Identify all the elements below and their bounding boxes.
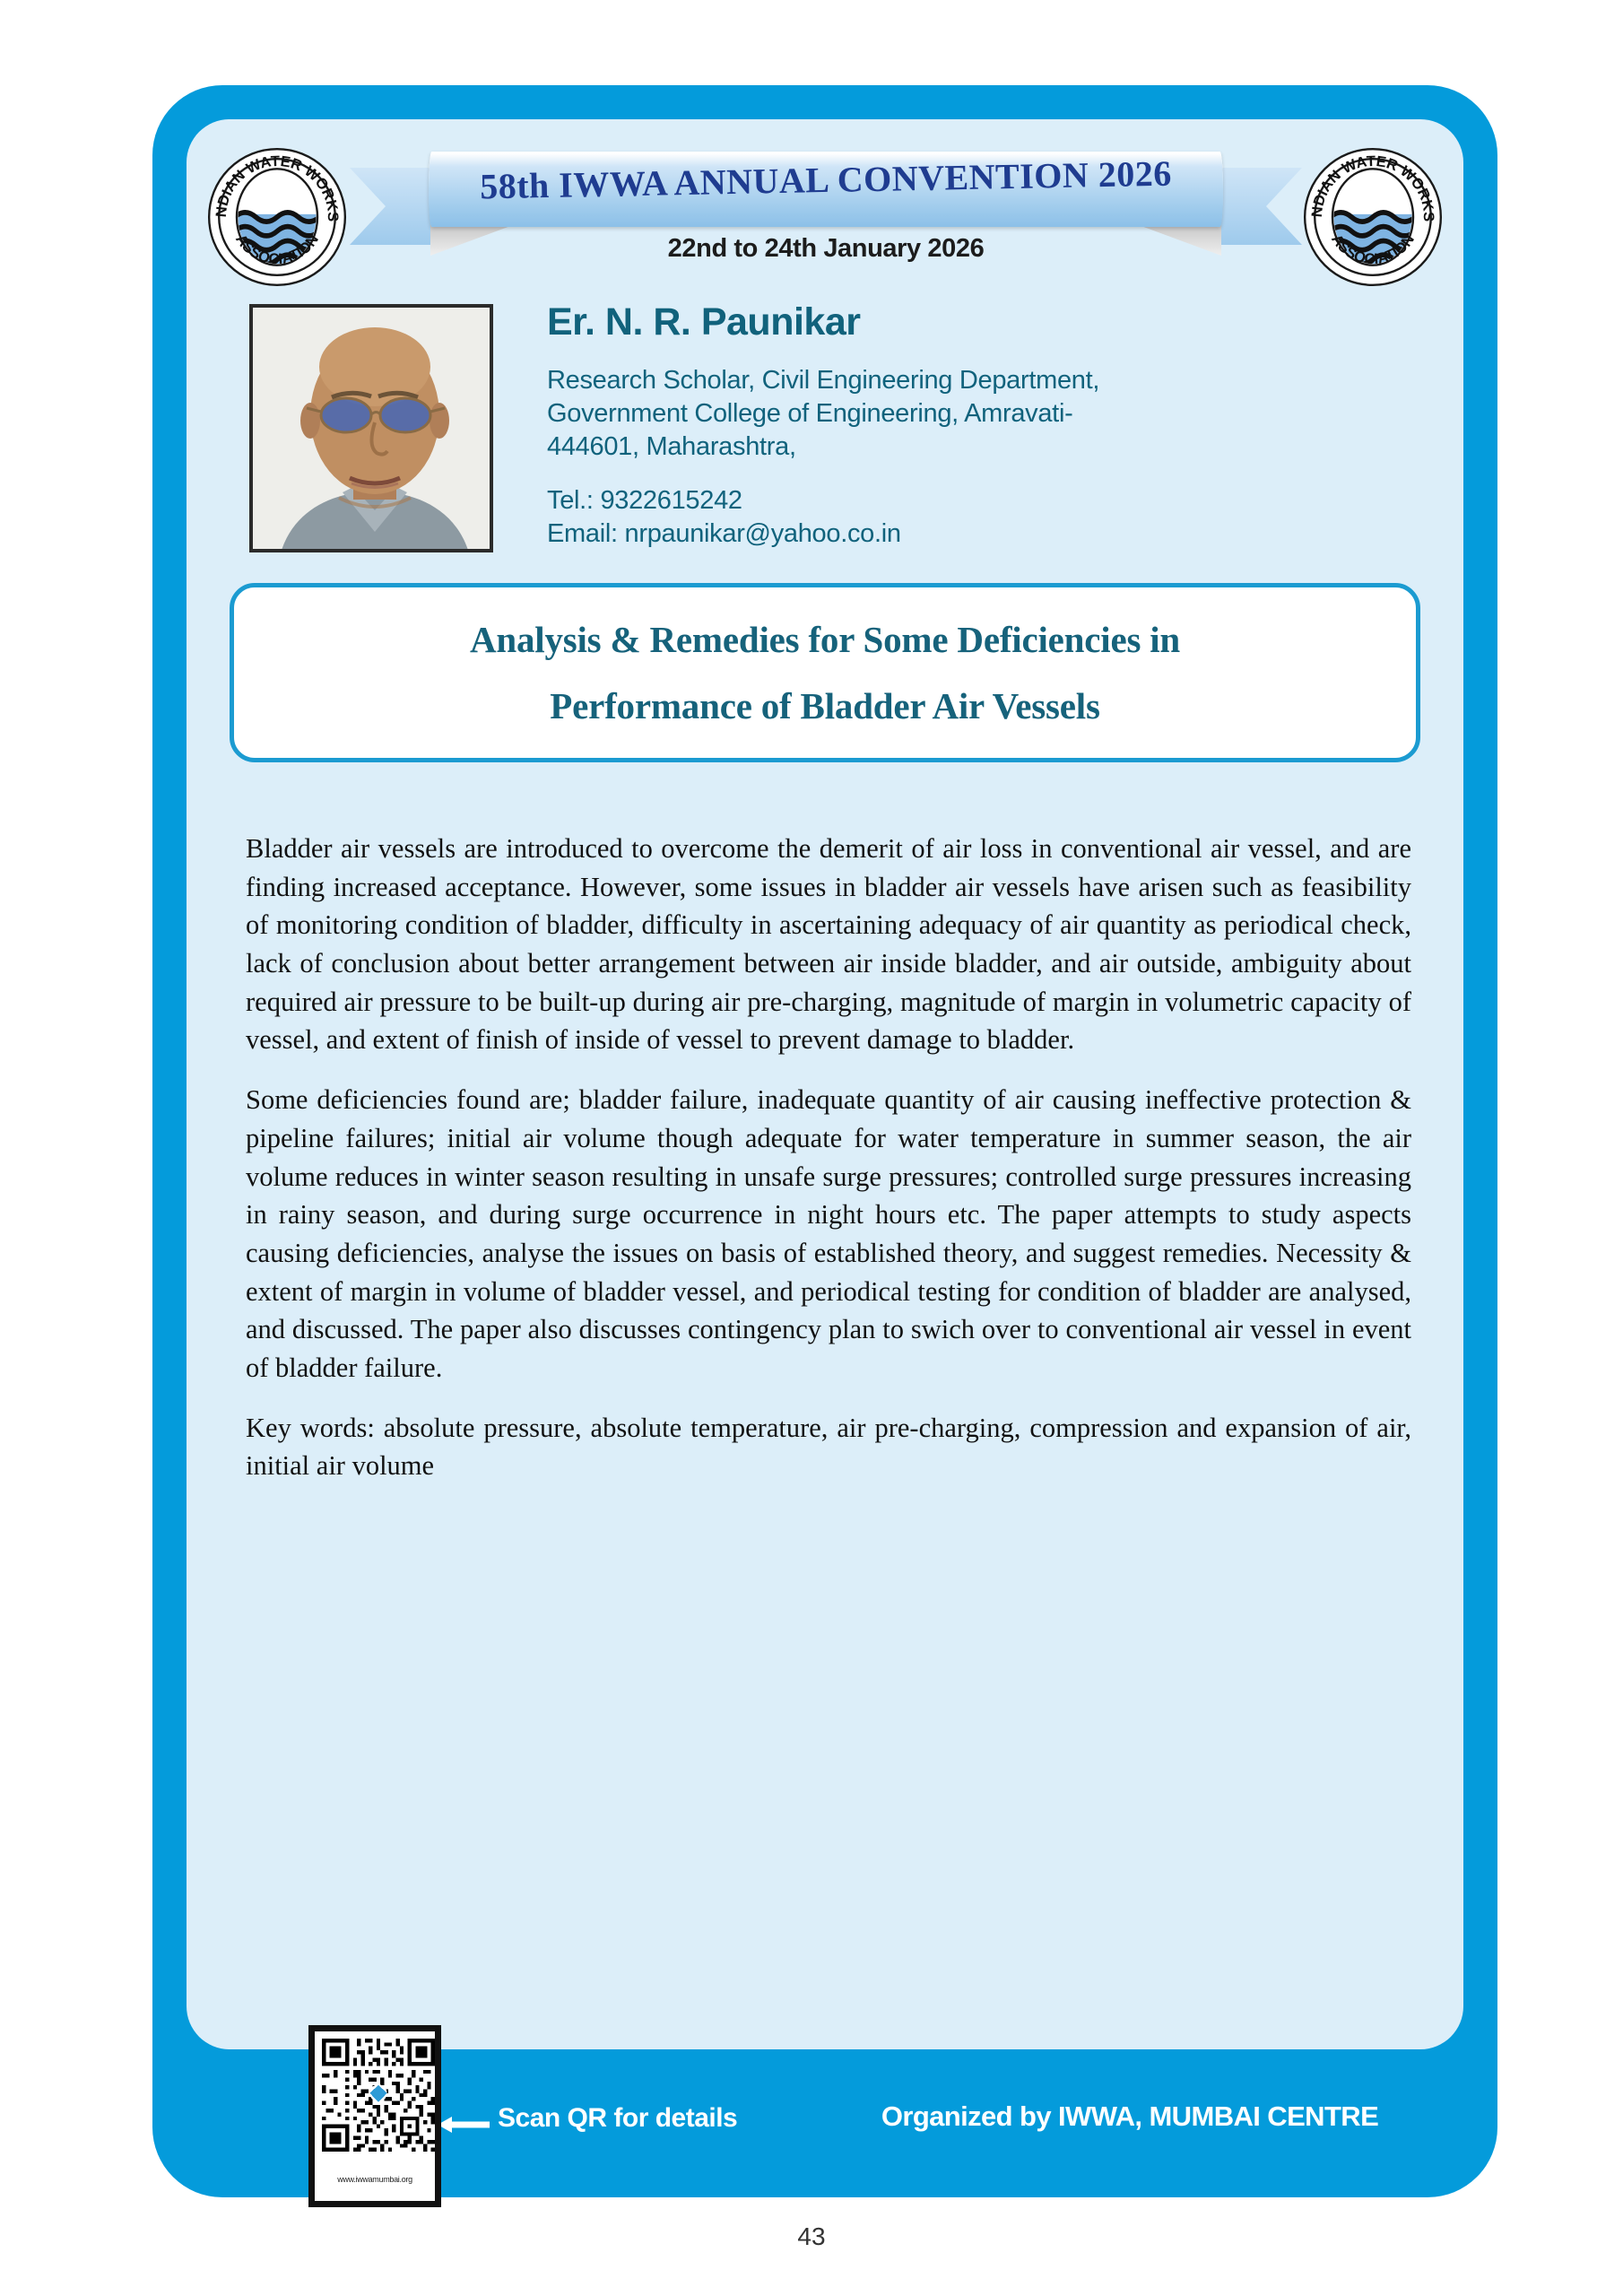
author-photo bbox=[249, 304, 493, 552]
header-area: INDIAN WATER WORKS ASSOCIATION 58th IWWA… bbox=[187, 119, 1463, 291]
qr-caption: www.iwwamumbai.org bbox=[322, 2175, 428, 2184]
paper-title-line-2: Performance of Bladder Air Vessels bbox=[550, 684, 1099, 727]
organizer-label: Organized by IWWA, MUMBAI CENTRE bbox=[870, 2100, 1390, 2133]
qr-code-card[interactable]: www.iwwamumbai.org bbox=[308, 2025, 441, 2207]
paper-title-line-1: Analysis & Remedies for Some Deficiencie… bbox=[470, 618, 1180, 661]
event-ribbon: 58th IWWA ANNUAL CONVENTION 2026 22nd to… bbox=[348, 141, 1304, 275]
author-email[interactable]: Email: nrpaunikar@yahoo.co.in bbox=[547, 517, 1399, 551]
left-arrow-icon bbox=[438, 2116, 490, 2134]
abstract-section: Bladder air vessels are introduced to ov… bbox=[246, 830, 1411, 1507]
abstract-paragraph-2: Some deficiencies found are; bladder fai… bbox=[246, 1081, 1411, 1387]
abstract-keywords: Key words: absolute pressure, absolute t… bbox=[246, 1409, 1411, 1485]
page-number: 43 bbox=[0, 2222, 1623, 2251]
content-panel: INDIAN WATER WORKS ASSOCIATION 58th IWWA… bbox=[187, 119, 1463, 2049]
scan-qr-label: Scan QR for details bbox=[498, 2103, 737, 2134]
author-affiliation-line-2: Government College of Engineering, Amrav… bbox=[547, 397, 1399, 430]
author-affiliation-line-3: 444601, Maharashtra, bbox=[547, 430, 1399, 464]
convention-dates: 22nd to 24th January 2026 bbox=[348, 234, 1304, 264]
iwwa-logo-icon: INDIAN WATER WORKS ASSOCIATION bbox=[1302, 146, 1444, 288]
author-contact: Tel.: 9322615242 Email: nrpaunikar@yahoo… bbox=[547, 484, 1399, 551]
paper-title-box: Analysis & Remedies for Some Deficiencie… bbox=[230, 583, 1420, 762]
poster-frame: INDIAN WATER WORKS ASSOCIATION 58th IWWA… bbox=[152, 85, 1497, 2197]
author-affiliation-line-1: Research Scholar, Civil Engineering Depa… bbox=[547, 364, 1399, 397]
abstract-paragraph-1: Bladder air vessels are introduced to ov… bbox=[246, 830, 1411, 1059]
author-block: Er. N. R. Paunikar Research Scholar, Civ… bbox=[249, 300, 1406, 561]
author-name: Er. N. R. Paunikar bbox=[547, 300, 1399, 344]
author-portrait-image bbox=[253, 308, 493, 552]
author-info: Er. N. R. Paunikar Research Scholar, Civ… bbox=[547, 300, 1399, 551]
qr-code-icon[interactable] bbox=[322, 2039, 435, 2152]
iwwa-logo-icon: INDIAN WATER WORKS ASSOCIATION bbox=[206, 146, 348, 288]
author-telephone: Tel.: 9322615242 bbox=[547, 484, 1399, 517]
